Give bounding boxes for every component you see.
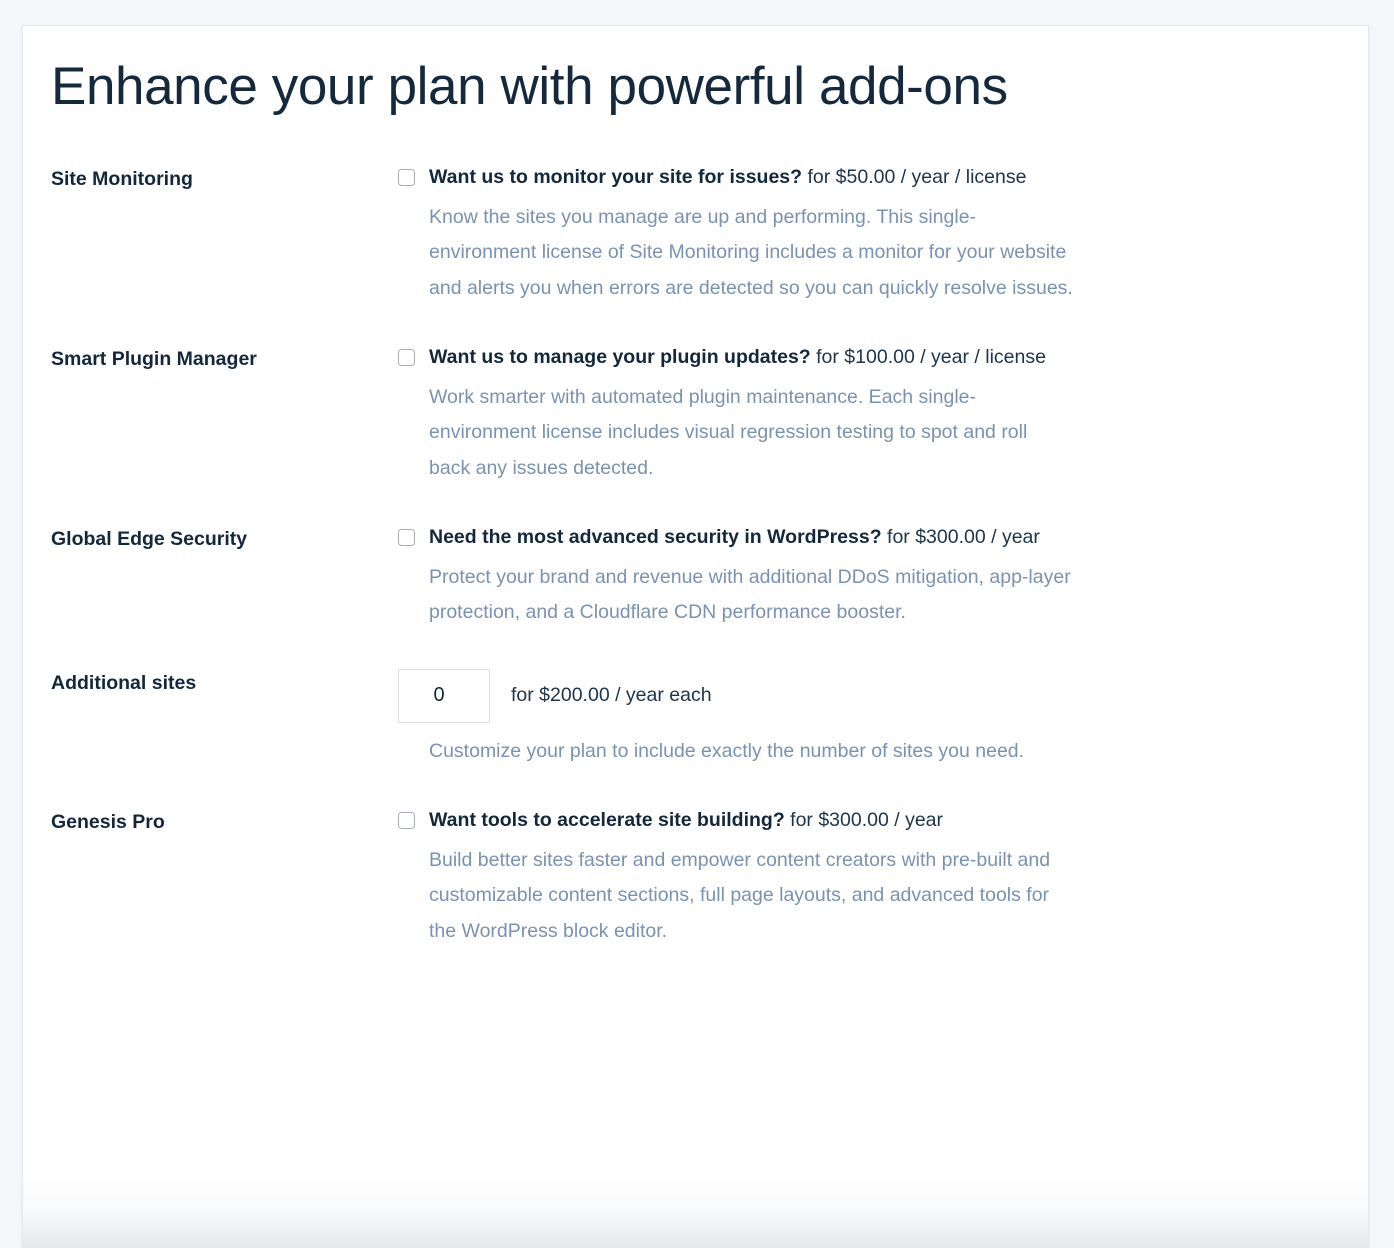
card-content: Enhance your plan with powerful add-ons … [23,26,1368,950]
addon-label: Smart Plugin Manager [51,345,397,372]
site-monitoring-checkbox[interactable] [398,169,415,186]
addon-price: for $200.00 / year each [490,684,712,707]
addon-body: Need the most advanced security in WordP… [397,525,1340,631]
addon-offer-text: Want tools to accelerate site building? … [415,808,943,834]
addon-description: Protect your brand and revenue with addi… [398,560,1073,631]
addon-head: for $200.00 / year each [398,669,1340,723]
smart-plugin-manager-checkbox[interactable] [398,349,415,366]
addon-row-global-edge-security: Global Edge Security Need the most advan… [51,525,1340,631]
addon-row-additional-sites: Additional sites for $200.00 / year each… [51,669,1340,770]
genesis-pro-checkbox[interactable] [398,812,415,829]
addon-price: for $100.00 / year / license [811,346,1046,368]
addon-offer-text: Want us to manage your plugin updates? f… [415,345,1046,371]
addon-description: Customize your plan to include exactly t… [398,734,1073,770]
addon-description: Build better sites faster and empower co… [398,843,1073,950]
addons-list: Site Monitoring Want us to monitor your … [51,165,1340,950]
page-root: Enhance your plan with powerful add-ons … [0,0,1394,1248]
addon-offer-text: Need the most advanced security in WordP… [415,525,1040,551]
addon-label: Additional sites [51,669,397,696]
addon-body: Want us to monitor your site for issues?… [397,165,1340,307]
addon-row-genesis-pro: Genesis Pro Want tools to accelerate sit… [51,808,1340,950]
page-title: Enhance your plan with powerful add-ons [51,56,1340,119]
addon-question: Want tools to accelerate site building? [429,809,785,831]
addon-label: Genesis Pro [51,808,397,835]
addon-row-site-monitoring: Site Monitoring Want us to monitor your … [51,165,1340,307]
addon-label: Global Edge Security [51,525,397,552]
addon-body: Want us to manage your plugin updates? f… [397,345,1340,487]
addon-description: Know the sites you manage are up and per… [398,200,1073,307]
addon-head: Need the most advanced security in WordP… [398,525,1340,551]
addon-price: for $50.00 / year / license [802,166,1026,188]
addon-question: Need the most advanced security in WordP… [429,526,882,548]
addon-offer-text: Want us to monitor your site for issues?… [415,165,1026,191]
addon-label: Site Monitoring [51,165,397,192]
addon-body: Want tools to accelerate site building? … [397,808,1340,950]
addon-question: Want us to manage your plugin updates? [429,346,811,368]
addon-body: for $200.00 / year each Customize your p… [397,669,1340,770]
addon-head: Want us to monitor your site for issues?… [398,165,1340,191]
addon-question: Want us to monitor your site for issues? [429,166,802,188]
addon-row-smart-plugin-manager: Smart Plugin Manager Want us to manage y… [51,345,1340,487]
addon-price: for $300.00 / year [882,526,1040,548]
addons-card: Enhance your plan with powerful add-ons … [22,25,1369,1248]
addon-head: Want us to manage your plugin updates? f… [398,345,1340,371]
additional-sites-input[interactable] [398,669,490,723]
addon-price: for $300.00 / year [785,809,943,831]
addon-description: Work smarter with automated plugin maint… [398,380,1073,487]
addon-head: Want tools to accelerate site building? … [398,808,1340,834]
global-edge-security-checkbox[interactable] [398,529,415,546]
